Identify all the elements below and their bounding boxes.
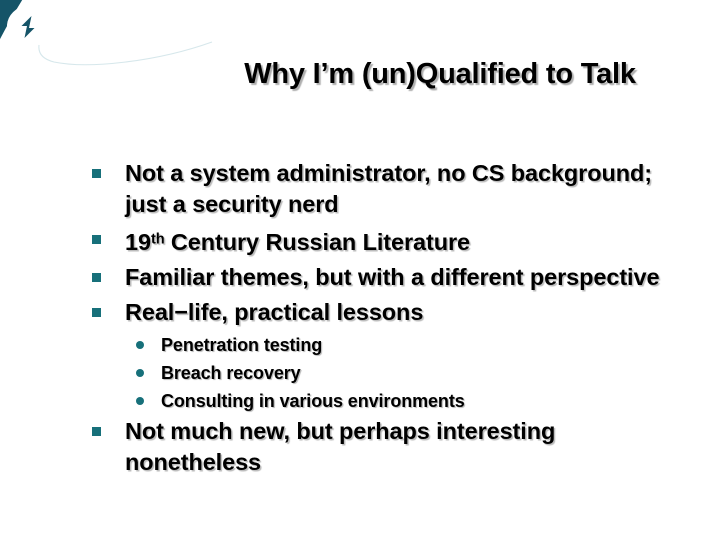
list-item: Familiar themes, but with a different pe… — [88, 262, 688, 293]
list-item-label: Breach recovery — [161, 363, 301, 383]
list-item: Not much new, but perhaps interesting no… — [88, 416, 688, 478]
page-title: Why I’m (un)Qualified to Talk — [175, 58, 705, 91]
ordinal-number: 19 — [125, 229, 151, 255]
list-item: Real−life, practical lessons — [88, 297, 688, 328]
presentation-slide: BERBEE® Decade 1. 1993-2003 Why I’m (un)… — [0, 0, 719, 539]
list-item: Penetration testing — [88, 332, 688, 358]
square-bullet-icon — [92, 273, 101, 282]
list-item-label: Not a system administrator, no CS backgr… — [125, 160, 652, 217]
square-bullet-icon — [92, 169, 101, 178]
registered-mark: ® — [166, 12, 172, 21]
round-bullet-icon — [136, 397, 144, 405]
ordinal-suffix: th — [151, 231, 165, 247]
list-item: Breach recovery — [88, 360, 688, 386]
brand-wordmark: BERBEE® — [60, 12, 172, 30]
list-item-label: Consulting in various environments — [161, 391, 465, 411]
list-item-label: Not much new, but perhaps interesting no… — [125, 418, 555, 475]
bullet-list: Not a system administrator, no CS backgr… — [88, 158, 688, 482]
list-item-label: Penetration testing — [161, 335, 322, 355]
list-item-label: 19th Century Russian Literature — [125, 229, 470, 255]
brand-wordmark-text: BERBEE — [60, 12, 166, 29]
square-bullet-icon — [92, 308, 101, 317]
list-item-label: Familiar themes, but with a different pe… — [125, 264, 659, 290]
list-item-label: Real−life, practical lessons — [125, 299, 423, 325]
square-bullet-icon — [92, 427, 101, 436]
round-bullet-icon — [136, 369, 144, 377]
round-bullet-icon — [136, 341, 144, 349]
list-item: Consulting in various environments — [88, 388, 688, 414]
list-item: 19th Century Russian Literature — [88, 224, 688, 258]
square-bullet-icon — [92, 235, 101, 244]
list-item: Not a system administrator, no CS backgr… — [88, 158, 688, 220]
ordinal-remainder: Century Russian Literature — [165, 229, 471, 255]
